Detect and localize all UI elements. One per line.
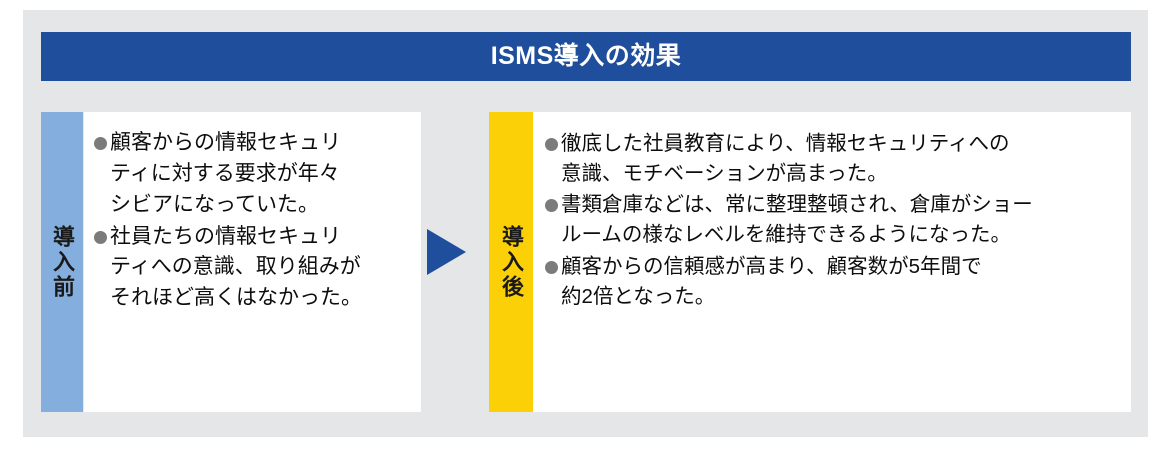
after-content-box: 徹底した社員教育により、情報セキュリティへの 意識、モチベーションが高まった。 …	[533, 112, 1131, 412]
list-item: 徹底した社員教育により、情報セキュリティへの 意識、モチベーションが高まった。	[545, 129, 1123, 189]
list-item-text: 徹底した社員教育により、情報セキュリティへの 意識、モチベーションが高まった。	[561, 129, 1010, 189]
slide-title-bar: ISMS導入の効果	[41, 32, 1131, 81]
before-bullet-list: 顧客からの情報セキュリ ティに対する要求が年々 シビアになっていた。 社員たちの…	[84, 112, 421, 314]
list-item-text: 社員たちの情報セキュリ ティへの意識、取り組みが それほど高くはなかった。	[110, 222, 362, 315]
list-item: 顧客からの信頼感が高まり、顧客数が5年間で 約2倍となった。	[545, 252, 1123, 312]
after-label-bar: 導入後	[489, 112, 533, 412]
list-item-text: 書類倉庫などは、常に整理整頓され、倉庫がショー ルームの様なレベルを維持できるよ…	[561, 190, 1033, 250]
before-label-text: 導入前	[49, 225, 75, 300]
list-item-text: 顧客からの信頼感が高まり、顧客数が5年間で 約2倍となった。	[561, 252, 982, 312]
slide-canvas: ISMS導入の効果 導入前 顧客からの情報セキュリ ティに対する要求が年々 シビ…	[0, 0, 1171, 450]
list-item: 社員たちの情報セキュリ ティへの意識、取り組みが それほど高くはなかった。	[94, 222, 413, 315]
before-label-bar: 導入前	[41, 112, 83, 412]
before-content-box: 顧客からの情報セキュリ ティに対する要求が年々 シビアになっていた。 社員たちの…	[84, 112, 421, 412]
list-item: 顧客からの情報セキュリ ティに対する要求が年々 シビアになっていた。	[94, 128, 413, 221]
bullet-dot-icon	[94, 231, 107, 244]
page-title: ISMS導入の効果	[491, 44, 682, 69]
list-item-text: 顧客からの情報セキュリ ティに対する要求が年々 シビアになっていた。	[110, 128, 341, 221]
after-label-text: 導入後	[498, 225, 524, 300]
right-triangle-arrow-icon	[427, 229, 466, 275]
bullet-dot-icon	[545, 138, 558, 151]
list-item: 書類倉庫などは、常に整理整頓され、倉庫がショー ルームの様なレベルを維持できるよ…	[545, 190, 1123, 250]
bullet-dot-icon	[94, 137, 107, 150]
after-bullet-list: 徹底した社員教育により、情報セキュリティへの 意識、モチベーションが高まった。 …	[533, 112, 1131, 312]
bullet-dot-icon	[545, 261, 558, 274]
bullet-dot-icon	[545, 199, 558, 212]
